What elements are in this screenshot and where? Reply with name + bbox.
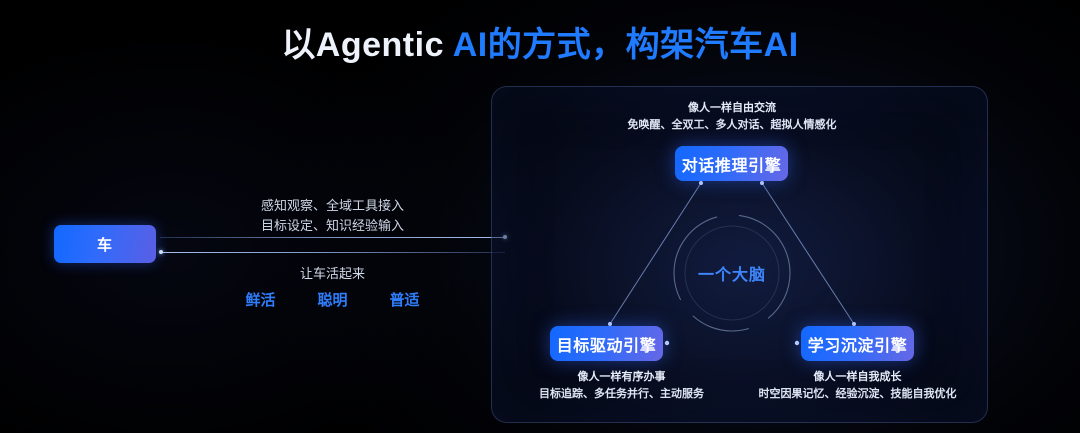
center-brain-label: 一个大脑 (656, 261, 808, 285)
flow-arrow-outbound (160, 252, 505, 253)
car-node[interactable]: 车 (54, 225, 156, 263)
engine-caption-learning-main: 像人一样自我成长 (720, 369, 995, 386)
keyword-item-0: 鲜活 (245, 289, 275, 310)
engine-caption-dialog: 像人一样自由交流 免唤醒、全双工、多人对话、超拟人情感化 (582, 100, 882, 134)
outbound-flow-caption: 让车活起来 (160, 264, 505, 284)
engine-caption-learning-sub: 时空因果记忆、经验沉淀、技能自我优化 (720, 386, 995, 403)
car-node-label: 车 (97, 234, 113, 255)
slide-canvas: 以Agentic AI的方式，构架汽车AI 车 感知观察、全域工具接入 目标设定… (0, 0, 1080, 433)
engine-box-goal[interactable]: 目标驱动引擎 (550, 326, 663, 361)
keyword-item-1: 聪明 (317, 289, 347, 310)
engine-box-dialog[interactable]: 对话推理引擎 (675, 146, 788, 181)
page-title: 以Agentic AI的方式，构架汽车AI (0, 22, 1080, 68)
engine-caption-dialog-main: 像人一样自由交流 (582, 100, 882, 117)
engine-caption-goal-main: 像人一样有序办事 (484, 369, 759, 386)
engine-box-learning-label: 学习沉淀引擎 (808, 332, 908, 356)
keyword-item-2: 普适 (390, 289, 420, 310)
engine-caption-goal-sub: 目标追踪、多任务并行、主动服务 (484, 386, 759, 403)
engine-box-dialog-label: 对话推理引擎 (682, 152, 782, 176)
flow-arrow-outbound-head-icon (159, 250, 163, 254)
engine-caption-goal: 像人一样有序办事 目标追踪、多任务并行、主动服务 (484, 369, 759, 403)
page-title-part-blue: AI的方式，构架汽车AI (453, 26, 799, 64)
page-title-part-white: 以Agentic (281, 26, 452, 64)
engine-caption-dialog-sub: 免唤醒、全双工、多人对话、超拟人情感化 (582, 117, 882, 134)
engine-box-learning[interactable]: 学习沉淀引擎 (801, 326, 914, 361)
engine-box-goal-label: 目标驱动引擎 (557, 332, 657, 356)
brain-diagram-panel: 像人一样自由交流 免唤醒、全双工、多人对话、超拟人情感化 对话推理引擎 目标驱动… (491, 86, 988, 423)
inbound-flow-caption-line2: 目标设定、知识经验输入 (160, 216, 505, 236)
keyword-list: 鲜活 聪明 普适 (160, 289, 505, 310)
inbound-flow-caption: 感知观察、全域工具接入 目标设定、知识经验输入 (160, 196, 505, 236)
inbound-flow-caption-line1: 感知观察、全域工具接入 (160, 196, 505, 216)
engine-caption-learning: 像人一样自我成长 时空因果记忆、经验沉淀、技能自我优化 (720, 369, 995, 403)
flow-arrow-inbound (160, 237, 505, 238)
